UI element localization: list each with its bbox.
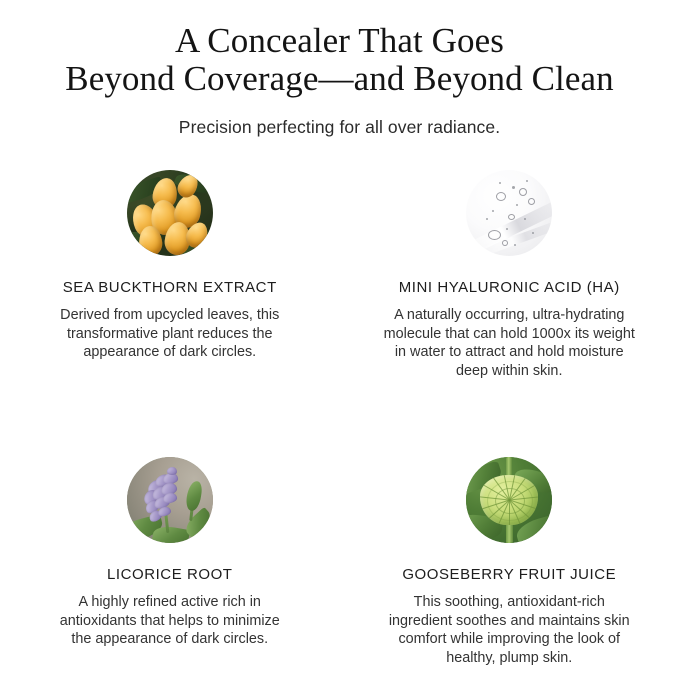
ingredient-grid: SEA BUCKTHORN EXTRACT Derived from upcyc… bbox=[0, 165, 679, 675]
thumbnail-wrap bbox=[364, 165, 656, 260]
gel-texture-illustration bbox=[466, 170, 552, 256]
ingredient-description: A highly refined active rich in antioxid… bbox=[51, 593, 289, 649]
ingredient-card-sea-buckthorn: SEA BUCKTHORN EXTRACT Derived from upcyc… bbox=[0, 165, 340, 380]
headline-line-1: A Concealer That Goes bbox=[18, 22, 661, 60]
ingredient-benefits-page: A Concealer That Goes Beyond Coverage—an… bbox=[0, 0, 679, 679]
ingredient-card-licorice-root: LICORICE ROOT A highly refined active ri… bbox=[0, 452, 340, 667]
page-subtitle: Precision perfecting for all over radian… bbox=[0, 116, 679, 138]
berry-illustration bbox=[127, 170, 213, 256]
headline-line-2: Beyond Coverage—and Beyond Clean bbox=[18, 60, 661, 98]
thumbnail-wrap bbox=[364, 452, 656, 547]
hyaluronic-acid-gel-texture-photo bbox=[466, 170, 552, 256]
thumbnail-wrap bbox=[24, 165, 316, 260]
page-title: A Concealer That Goes Beyond Coverage—an… bbox=[0, 22, 679, 98]
ingredient-description: Derived from upcycled leaves, this trans… bbox=[51, 306, 289, 362]
ingredient-title: LICORICE ROOT bbox=[24, 565, 316, 584]
ingredient-title: MINI HYALURONIC ACID (HA) bbox=[364, 278, 656, 297]
sea-buckthorn-berries-photo bbox=[127, 170, 213, 256]
thumbnail-wrap bbox=[24, 452, 316, 547]
ingredient-card-gooseberry: GOOSEBERRY FRUIT JUICE This soothing, an… bbox=[340, 452, 679, 667]
ingredient-description: A naturally occurring, ultra-hydrating m… bbox=[380, 306, 638, 380]
gooseberry-fruit-husk-photo bbox=[466, 457, 552, 543]
flower-illustration bbox=[127, 457, 213, 543]
husk-illustration bbox=[466, 457, 552, 543]
licorice-root-flower-photo bbox=[127, 457, 213, 543]
ingredient-title: SEA BUCKTHORN EXTRACT bbox=[24, 278, 316, 297]
ingredient-title: GOOSEBERRY FRUIT JUICE bbox=[364, 565, 656, 584]
ingredient-description: This soothing, antioxidant-rich ingredie… bbox=[380, 593, 638, 667]
page-header: A Concealer That Goes Beyond Coverage—an… bbox=[0, 0, 679, 138]
ingredient-card-hyaluronic-acid: MINI HYALURONIC ACID (HA) A naturally oc… bbox=[340, 165, 679, 380]
